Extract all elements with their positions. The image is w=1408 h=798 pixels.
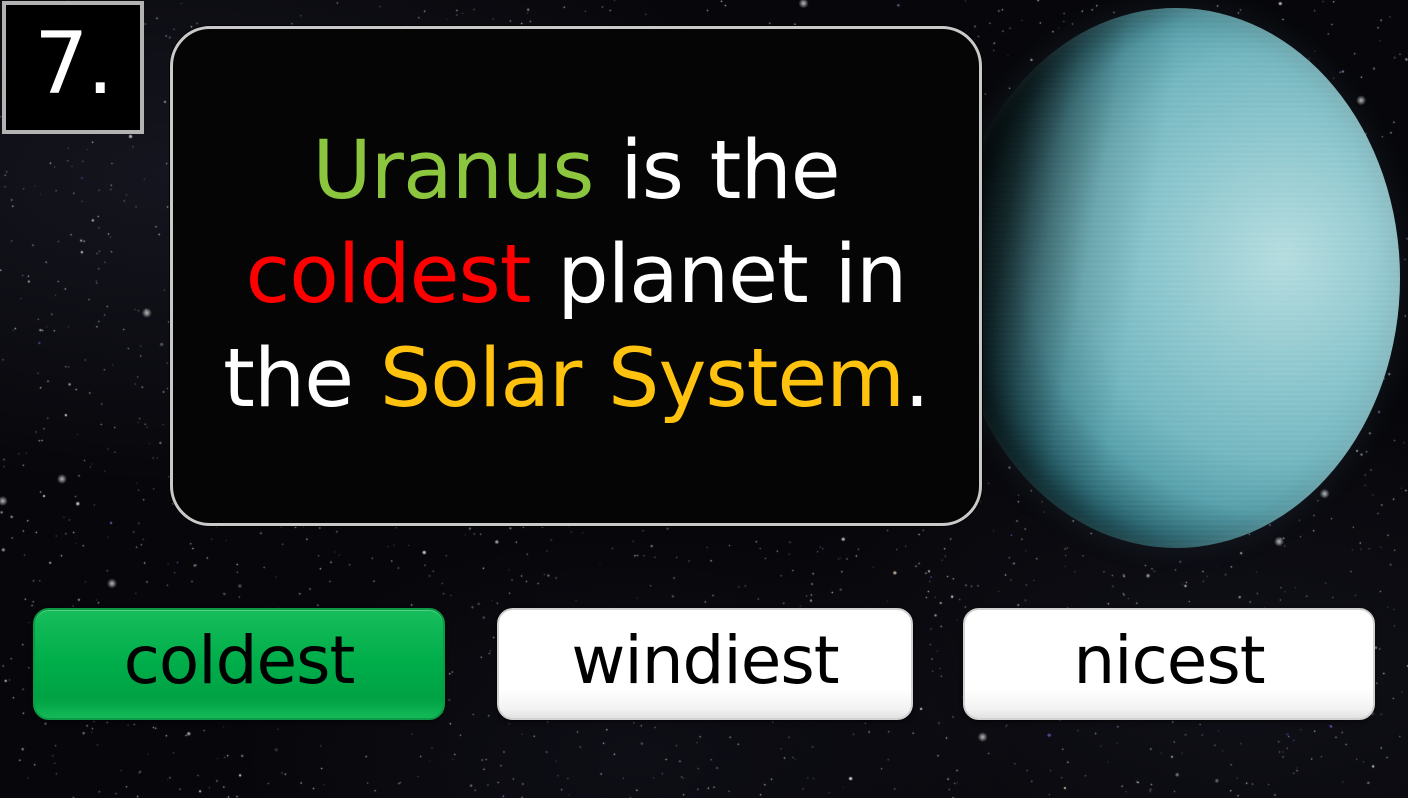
quiz-slide: 7. Uranus is the coldest planet in the S… — [0, 0, 1408, 798]
statement-segment-5: . — [904, 332, 929, 426]
answer-option-label: windiest — [571, 628, 838, 694]
question-number-label: 7. — [34, 21, 112, 107]
statement-segment-4: Solar System — [380, 332, 904, 426]
answer-options-row: coldest windiest nicest — [0, 600, 1408, 730]
answer-option-windiest[interactable]: windiest — [497, 608, 913, 720]
question-number-badge: 7. — [2, 1, 144, 134]
statement-card: Uranus is the coldest planet in the Sola… — [170, 26, 982, 526]
planet-limb-highlight — [952, 8, 1400, 548]
answer-option-coldest[interactable]: coldest — [33, 608, 445, 720]
answer-option-nicest[interactable]: nicest — [963, 608, 1375, 720]
answer-option-label: coldest — [124, 628, 355, 694]
statement-segment-0: Uranus — [312, 124, 593, 218]
statement-segment-1: is the — [593, 124, 839, 218]
statement-text: Uranus is the coldest planet in the Sola… — [173, 120, 979, 431]
uranus-planet — [952, 8, 1400, 548]
answer-option-label: nicest — [1073, 628, 1264, 694]
statement-segment-2: coldest — [246, 228, 531, 322]
